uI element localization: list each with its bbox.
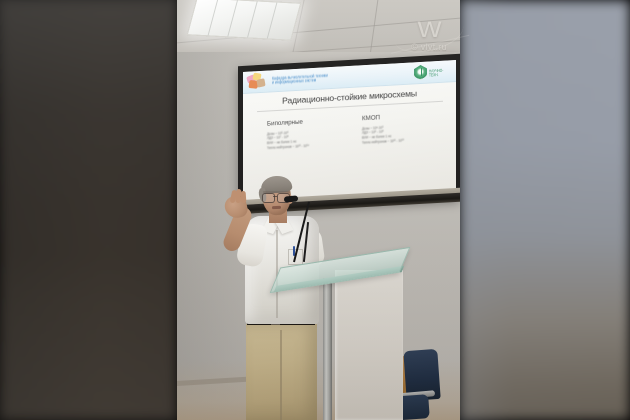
screenshot-stage: Кафедра вычислительной техники и информа… <box>0 0 630 420</box>
green-hexagon-logo-icon: НАУЧНО- ТЕХН. <box>413 62 453 82</box>
letterbox-bar-left <box>0 0 177 420</box>
colorful-blocks-logo-icon <box>246 73 268 91</box>
speaker-trousers <box>246 324 317 420</box>
speaker-mouth <box>272 206 281 209</box>
podium-post <box>323 278 332 420</box>
right-logo-line2: ТЕХН. <box>429 71 443 77</box>
slide-column-cmos: КМОП Дозы ~ 10⁴-10⁵ ЛДЗ ~ 10⁵ - 10⁶ ВУИ … <box>362 111 443 145</box>
trouser-seam <box>280 330 282 420</box>
letterbox-bar-right <box>460 0 630 420</box>
conference-room-photo: Кафедра вычислительной техники и информа… <box>177 0 460 420</box>
slide-column-bipolar: Биполярные Дозы ~ 10⁵-10⁶ ЛДЗ ~ 10⁷ - 10… <box>267 116 348 150</box>
column-heading: КМОП <box>362 111 443 123</box>
column-heading: Биполярные <box>267 116 348 128</box>
recessed-fluorescent-light-panel <box>187 0 302 41</box>
slide-columns: Биполярные Дозы ~ 10⁵-10⁶ ЛДЗ ~ 10⁷ - 10… <box>267 111 443 150</box>
podium-front-panel <box>335 270 403 420</box>
slide-banner-text: Кафедра вычислительной техники и информа… <box>272 69 413 84</box>
hand-finger <box>241 191 247 203</box>
